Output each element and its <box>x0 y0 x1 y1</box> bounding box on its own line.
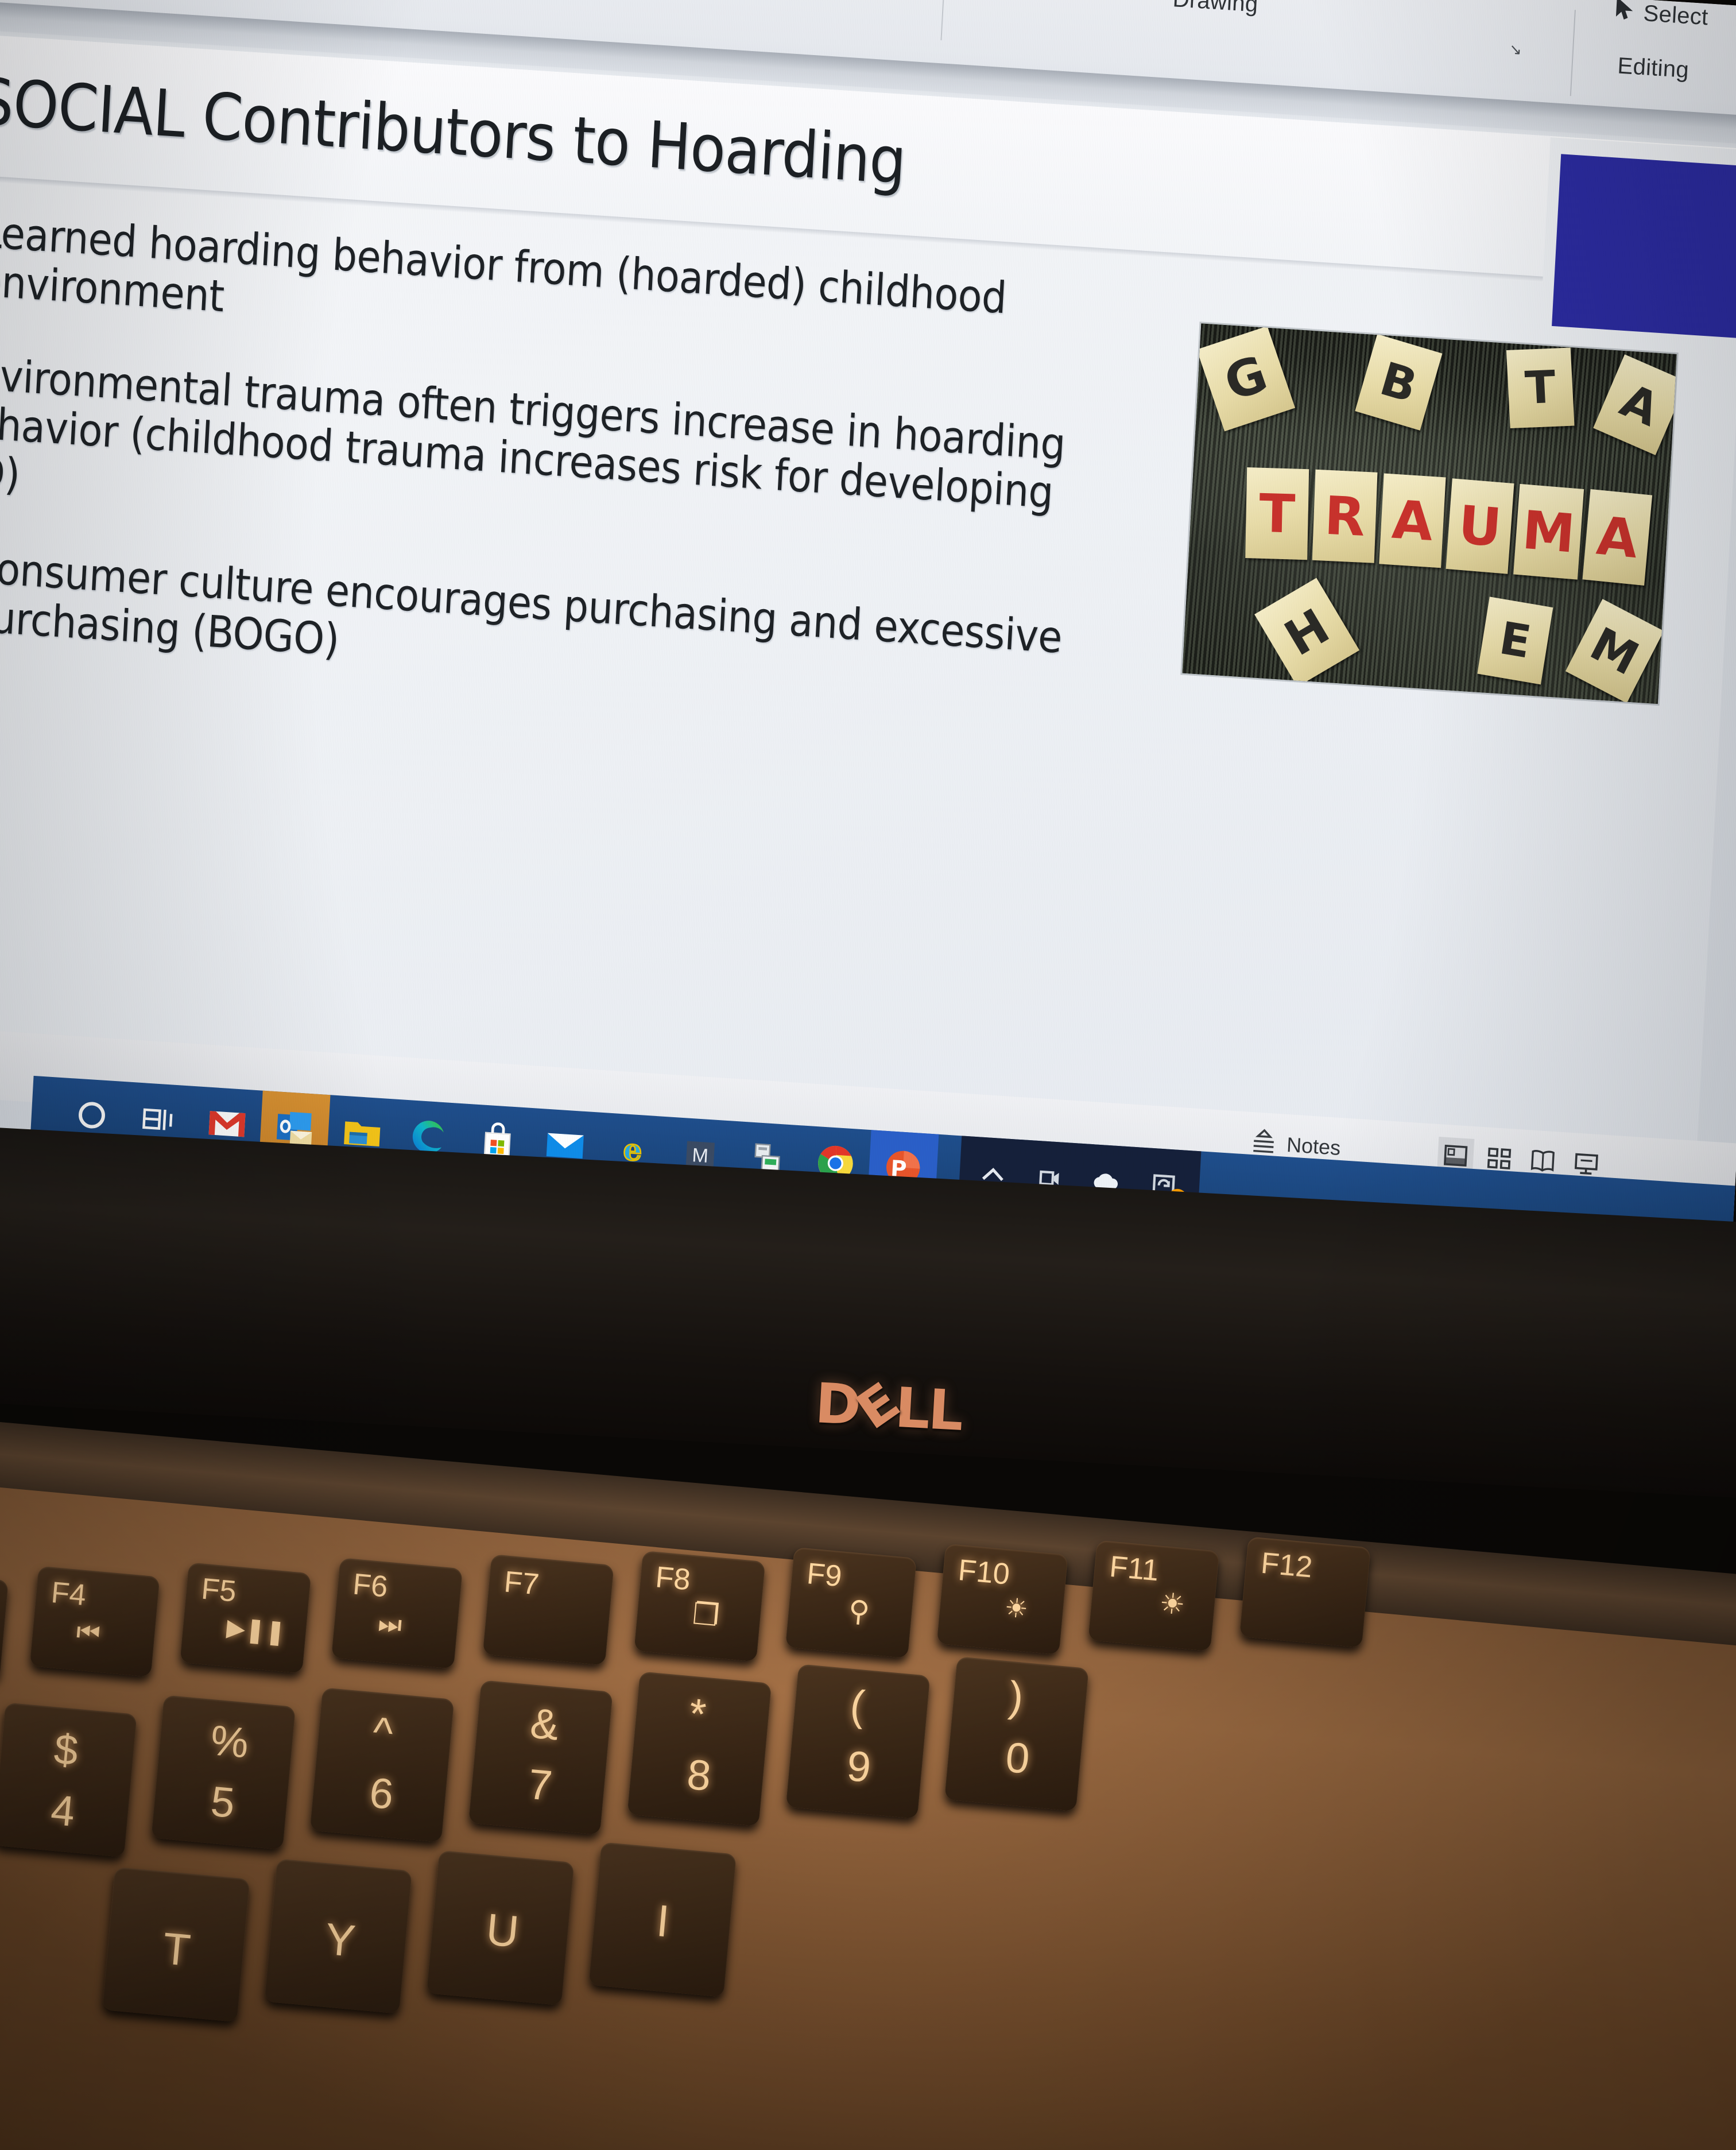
ribbon-group-editing-label: Editing <box>1617 53 1690 83</box>
key-0[interactable]: ) 0 <box>944 1656 1089 1811</box>
select-cursor-icon <box>1614 0 1635 22</box>
key-y[interactable]: Y <box>264 1858 412 2013</box>
key-f10[interactable]: F10 ☀ <box>937 1544 1068 1655</box>
slide-body-placeholder[interactable]: • Learned hoarding behavior from (hoarde… <box>0 205 1129 758</box>
slide-accent-rectangle <box>1552 154 1736 340</box>
cortana-circle-icon <box>73 1097 110 1136</box>
slide-bullet-2[interactable]: • Environmental trauma often triggers in… <box>0 347 1121 570</box>
trauma-letter-M: M <box>1513 484 1584 580</box>
search-icon: ⚲ <box>847 1594 871 1629</box>
key-8[interactable]: * 8 <box>627 1671 772 1826</box>
trauma-letter-R: R <box>1312 470 1378 563</box>
key-f4[interactable]: F4 ⏮ <box>30 1566 160 1677</box>
key-f11[interactable]: F11 ☀ <box>1088 1540 1219 1652</box>
key-f7[interactable]: F7 <box>483 1554 614 1665</box>
key-t[interactable]: T <box>102 1867 250 2022</box>
dell-logo: DELL <box>813 1371 963 1443</box>
ribbon-divider <box>1570 10 1576 96</box>
keyboard-backlight-icon: ☀ <box>1003 1591 1029 1625</box>
select-button-label[interactable]: Select <box>1643 1 1709 30</box>
key-7[interactable]: & 7 <box>468 1680 613 1835</box>
slide-canvas[interactable]: SOCIAL Contributors to Hoarding • Learne… <box>0 33 1736 1141</box>
laptop-photo-scene: ↘ Drawing ↘ Editing Select ⌵ SOCIA <box>0 0 1736 2150</box>
key-u[interactable]: U <box>427 1850 575 2005</box>
notes-label: Notes <box>1286 1132 1341 1160</box>
trauma-letter-U: U <box>1446 478 1514 574</box>
key-f3[interactable]: F3 🔊 <box>0 1570 9 1680</box>
trauma-letter-T: T <box>1245 467 1309 560</box>
key-f12[interactable]: F12 <box>1239 1536 1371 1648</box>
key-6[interactable]: ^ 6 <box>310 1687 455 1842</box>
key-i[interactable]: I <box>588 1842 737 1997</box>
scatter-tile-T: T <box>1506 348 1575 428</box>
editing-dialog-launcher-icon[interactable]: ↘ <box>1509 40 1522 59</box>
trauma-letter-A2: A <box>1583 489 1653 586</box>
trauma-letter-A: A <box>1379 474 1446 568</box>
key-5[interactable]: % 5 <box>151 1695 296 1850</box>
key-9[interactable]: ( 9 <box>786 1664 931 1819</box>
key-f9[interactable]: F9 ⚲ <box>785 1547 917 1659</box>
scatter-tile-E: E <box>1477 596 1553 684</box>
task-view-icon <box>141 1102 178 1140</box>
key-f8[interactable]: F8 ❐ <box>634 1551 765 1662</box>
bullet-text: Consumer culture encourages purchasing a… <box>0 542 1094 712</box>
gmail-m-icon <box>207 1107 247 1142</box>
play-pause-icon: ▶❚❚ <box>226 1613 287 1647</box>
key-f5[interactable]: F5 ▶❚❚ <box>180 1562 311 1673</box>
ribbon-divider <box>940 0 946 40</box>
brightness-icon: ☀ <box>1158 1586 1187 1622</box>
bullet-text: Environmental trauma often triggers incr… <box>0 348 1075 567</box>
display-switch-icon: ❐ <box>691 1597 721 1633</box>
ribbon-group-drawing-label: Drawing <box>1172 0 1259 18</box>
next-track-icon: ⏭ <box>377 1607 403 1642</box>
key-4[interactable]: $ 4 <box>0 1702 137 1857</box>
key-f6[interactable]: F6 ⏭ <box>331 1558 463 1669</box>
previous-track-icon: ⏮ <box>75 1616 102 1650</box>
trauma-tiles-image[interactable]: G B T A T R A U M A H E M <box>1182 323 1676 704</box>
slide-bullet-3[interactable]: • Consumer culture encourages purchasing… <box>0 540 1111 714</box>
